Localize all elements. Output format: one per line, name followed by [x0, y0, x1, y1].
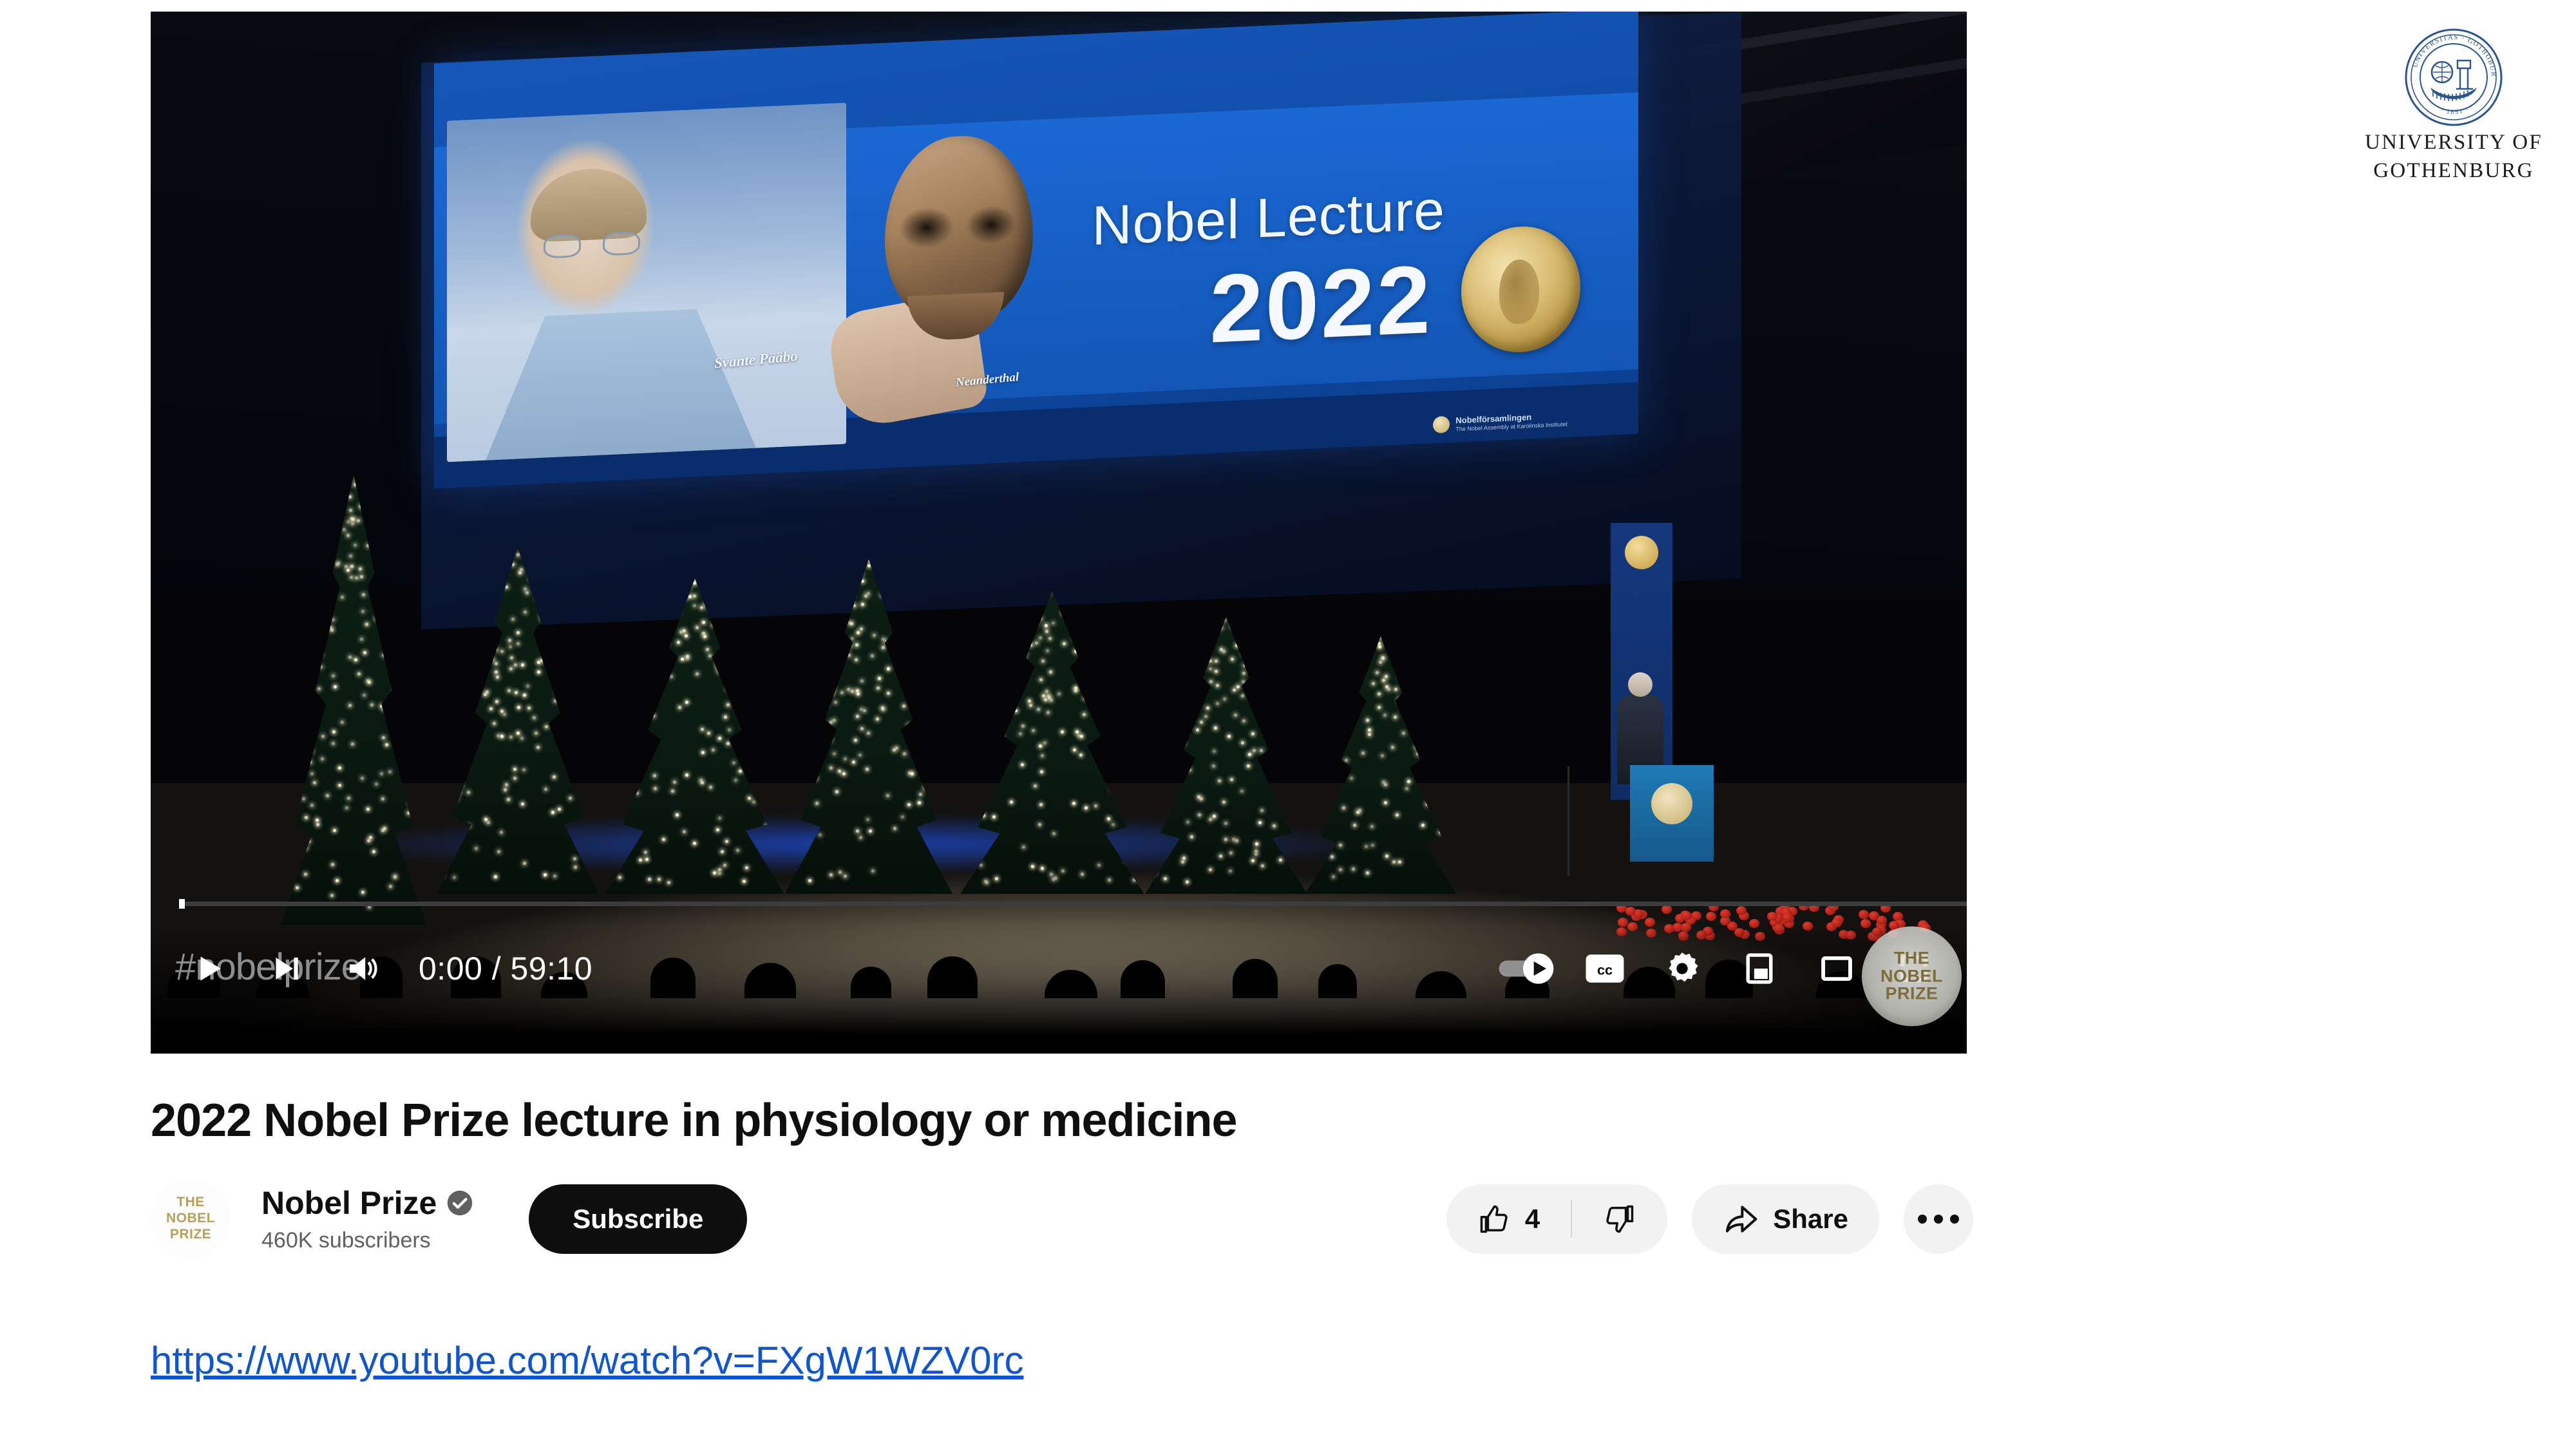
fullscreen-icon — [1895, 950, 1933, 987]
theater-mode-icon — [1818, 950, 1855, 987]
banner-medal-icon — [1625, 536, 1658, 569]
verified-badge-icon — [446, 1189, 474, 1217]
avatar-line3: PRIZE — [170, 1227, 211, 1242]
time-display: 0:00 / 59:10 — [419, 950, 592, 987]
microphone-stand — [1567, 766, 1569, 876]
owner-row: THE NOBEL PRIZE Nobel Prize 460K subscri… — [151, 1179, 1973, 1259]
university-name-line2: GOTHENBURG — [2331, 157, 2576, 185]
progress-handle[interactable] — [179, 899, 185, 909]
subscribe-button[interactable]: Subscribe — [529, 1184, 747, 1254]
channel-name[interactable]: Nobel Prize — [261, 1184, 437, 1222]
owner-text-block: Nobel Prize 460K subscribers — [261, 1184, 474, 1253]
video-url-link[interactable]: https://www.youtube.com/watch?v=FXgW1WZV… — [151, 1338, 1023, 1383]
play-button[interactable] — [170, 930, 247, 1007]
more-actions-button[interactable] — [1904, 1184, 1973, 1254]
video-player[interactable]: Svante Pääbo Neanderthal Nobel Lecture 2… — [151, 12, 1967, 1054]
university-of-gothenburg-logo: UNIVERSITAS · GOTHOBURGENSIS · 1891 · UN… — [2331, 26, 2576, 185]
svg-text:UNIVERSITAS · GOTHOBURGENSIS: UNIVERSITAS · GOTHOBURGENSIS — [2402, 26, 2497, 77]
dot — [1934, 1215, 1943, 1224]
settings-button[interactable] — [1643, 930, 1721, 1007]
player-controls[interactable]: #nobelprize 0:00 / 59:10 — [151, 899, 1967, 1054]
like-dislike-pill[interactable]: 4 — [1446, 1184, 1667, 1254]
like-button[interactable]: 4 — [1446, 1184, 1571, 1254]
miniplayer-button[interactable] — [1721, 930, 1798, 1007]
volume-button[interactable] — [325, 930, 402, 1007]
like-count: 4 — [1525, 1204, 1540, 1235]
action-buttons: 4 Share — [1446, 1184, 1973, 1254]
next-icon — [268, 951, 304, 987]
theater-button[interactable] — [1798, 930, 1875, 1007]
next-button[interactable] — [247, 930, 325, 1007]
channel-name-row[interactable]: Nobel Prize — [261, 1184, 474, 1222]
projection-screen: Svante Pääbo Neanderthal Nobel Lecture 2… — [434, 12, 1638, 488]
dot — [1918, 1215, 1927, 1224]
thumbs-up-icon — [1477, 1202, 1511, 1236]
miniplayer-icon — [1741, 950, 1778, 987]
autoplay-toggle-icon — [1497, 952, 1558, 985]
svg-text:cc: cc — [1597, 961, 1613, 978]
photo-glasses — [544, 231, 640, 260]
lectern — [1630, 765, 1714, 862]
controls-right-group[interactable]: cc — [1489, 930, 1953, 1007]
play-icon — [191, 951, 227, 987]
speaker-head — [1628, 672, 1653, 697]
subtitles-button[interactable]: cc — [1566, 930, 1643, 1007]
avatar-line1: THE — [176, 1195, 205, 1209]
svante-paabo-photo — [447, 102, 846, 462]
page-title: 2022 Nobel Prize lecture in physiology o… — [151, 1095, 1973, 1147]
video-frame[interactable]: Svante Pääbo Neanderthal Nobel Lecture 2… — [151, 12, 1967, 1054]
gear-icon — [1663, 949, 1701, 988]
closed-captions-icon: cc — [1585, 951, 1625, 986]
share-button[interactable]: Share — [1692, 1184, 1879, 1254]
volume-icon — [345, 950, 382, 987]
share-icon — [1723, 1201, 1759, 1237]
subscriber-count: 460K subscribers — [261, 1228, 474, 1253]
org-medal-icon — [1433, 416, 1450, 433]
progress-track[interactable] — [179, 902, 1967, 906]
slide-year: 2022 — [1209, 243, 1432, 365]
photo-shirt — [486, 307, 756, 460]
thumbs-down-icon — [1603, 1202, 1636, 1236]
svg-text:· 1891 ·: · 1891 · — [2439, 106, 2470, 116]
dislike-button[interactable] — [1572, 1184, 1667, 1254]
share-label: Share — [1773, 1204, 1848, 1235]
fullscreen-button[interactable] — [1875, 930, 1953, 1007]
controls-left-group[interactable]: 0:00 / 59:10 — [170, 930, 592, 1007]
dot — [1950, 1215, 1959, 1224]
channel-avatar[interactable]: THE NOBEL PRIZE — [151, 1179, 231, 1259]
lectern-medal-emblem — [1651, 783, 1692, 824]
video-meta: 2022 Nobel Prize lecture in physiology o… — [151, 1095, 1973, 1259]
university-seal-icon: UNIVERSITAS · GOTHOBURGENSIS · 1891 · — [2402, 26, 2505, 129]
university-name-line1: UNIVERSITY OF — [2331, 129, 2576, 157]
autoplay-toggle[interactable] — [1489, 930, 1566, 1007]
avatar-line2: NOBEL — [166, 1211, 215, 1226]
progress-bar[interactable] — [179, 899, 1967, 908]
